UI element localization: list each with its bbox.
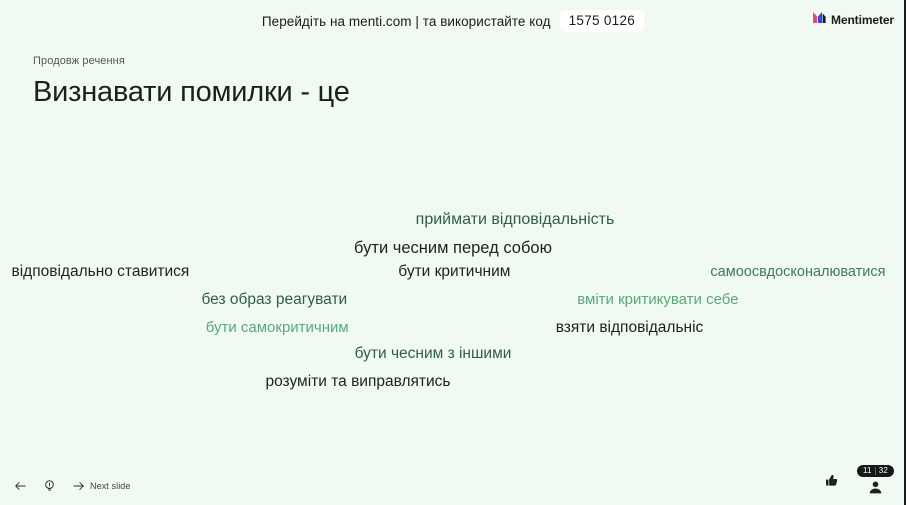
wordcloud-row: бути чесним перед собою [0, 240, 906, 257]
wordcloud-word: бути критичним [398, 264, 510, 280]
lightbulb-icon [43, 479, 56, 492]
mentimeter-logo-icon [813, 11, 826, 29]
participants-indicator[interactable]: 11 32 [857, 465, 894, 495]
mentimeter-brand: Mentimeter [813, 11, 894, 29]
next-slide-label: Next slide [90, 481, 131, 491]
wordcloud-word: бути чесним перед собою [354, 240, 552, 257]
slide-navigation: Next slide [14, 479, 131, 492]
join-instructions: Перейдіть на menti.com | та використайте… [262, 10, 644, 32]
wordcloud-word: взяти відповідальніс [556, 320, 704, 336]
person-icon [868, 480, 883, 495]
wordcloud-word: бути самокритичним [206, 320, 349, 335]
wordcloud-row: розуміти та виправлятись [0, 374, 906, 390]
wordcloud-word: приймати відповідальність [416, 212, 615, 228]
thumbs-up-icon [825, 473, 840, 488]
join-instructions-text: Перейдіть на menti.com | та використайте… [262, 14, 551, 29]
page-title: Визнавати помилки - це [33, 76, 733, 109]
wordcloud-row: приймати відповідальність [0, 212, 906, 228]
wordcloud-row: бути самокритичнимвзяти відповідальніс [0, 320, 906, 336]
arrow-left-icon [14, 480, 26, 492]
wordcloud-visualization: приймати відповідальністьбути чесним пер… [0, 200, 906, 405]
slide-eyebrow: Продовж речення [33, 55, 733, 67]
wordcloud-row: відповідально ставитисябути критичнимсам… [0, 264, 906, 280]
hint-button[interactable] [43, 479, 56, 492]
wordcloud-word: відповідально ставитися [12, 264, 190, 280]
mentimeter-brand-name: Mentimeter [831, 13, 894, 27]
previous-slide-button[interactable] [14, 480, 26, 492]
slide-title-block: Продовж речення Визнавати помилки - це [33, 55, 733, 109]
like-button[interactable] [825, 473, 840, 493]
wordcloud-word: самоосвдосконалюватися [710, 265, 885, 280]
badge-divider [875, 467, 876, 475]
wordcloud-row: без образ реагувативміти критикувати себ… [0, 292, 906, 308]
slide-footer: Next slide 11 32 [0, 465, 906, 505]
arrow-right-icon [73, 480, 85, 492]
wordcloud-word: вміти критикувати себе [577, 292, 738, 307]
presentation-slide: Перейдіть на menti.com | та використайте… [0, 0, 906, 505]
slide-header: Перейдіть на menti.com | та використайте… [0, 0, 906, 40]
participants-count-badge: 11 32 [857, 465, 894, 477]
participants-current: 11 [863, 467, 872, 475]
wordcloud-word: без образ реагувати [201, 292, 347, 308]
slide-actions: 11 32 [825, 465, 894, 495]
wordcloud-row: бути чесним з іншими [0, 346, 906, 362]
wordcloud-word: розуміти та виправлятись [265, 374, 450, 390]
join-code-badge: 1575 0126 [560, 10, 645, 32]
wordcloud-word: бути чесним з іншими [355, 346, 512, 362]
next-slide-button[interactable]: Next slide [73, 480, 131, 492]
participants-total: 32 [879, 467, 888, 475]
